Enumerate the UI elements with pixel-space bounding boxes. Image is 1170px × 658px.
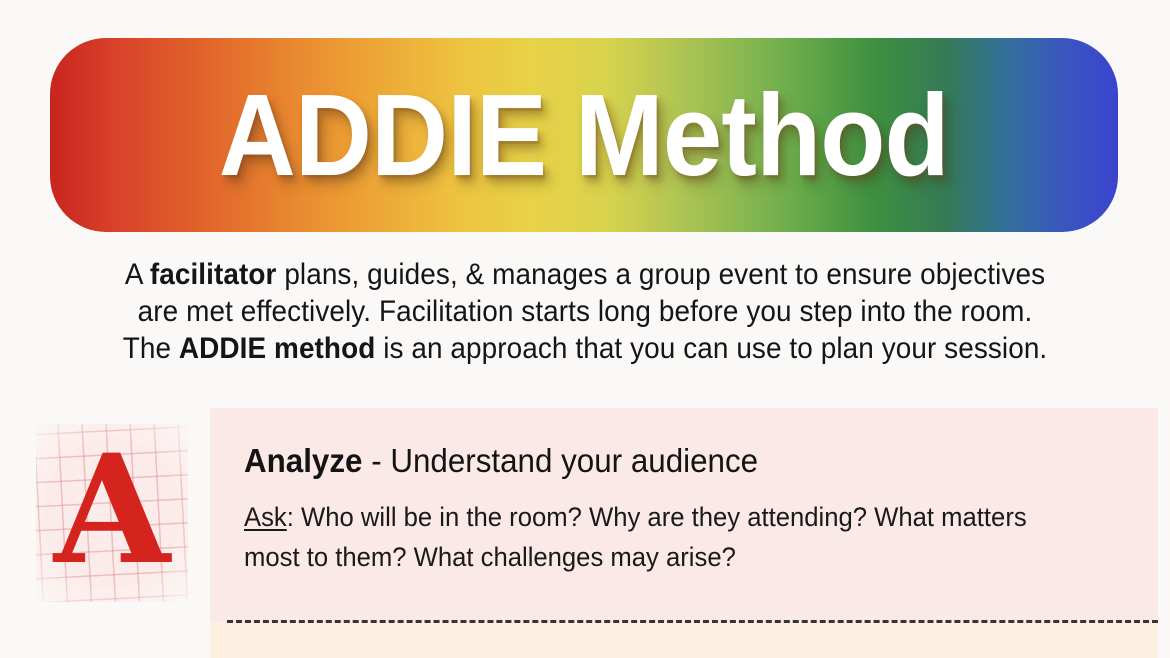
step-separator: - xyxy=(362,442,390,479)
page-title: ADDIE Method xyxy=(219,77,949,193)
step-description: Understand your audience xyxy=(390,442,758,479)
step-cue-label: Ask xyxy=(244,502,287,532)
intro-line-2: are met effectively. Facilitation starts… xyxy=(41,293,1129,330)
intro-line-3-pre: The xyxy=(123,332,179,365)
header-banner: ADDIE Method xyxy=(50,38,1118,232)
step-panel-analyze: Analyze - Understand your audience Ask: … xyxy=(210,408,1158,658)
step-cue-separator: : xyxy=(287,502,301,532)
step-body-text: Who will be in the room? Why are they at… xyxy=(244,502,1027,572)
intro-keyword-facilitator: facilitator xyxy=(150,258,277,291)
intro-line-1-pre: A xyxy=(125,258,150,291)
section-divider xyxy=(227,620,1158,623)
step-body-analyze: Ask: Who will be in the room? Why are th… xyxy=(244,497,1076,577)
step-letter-a: A xyxy=(36,424,188,602)
step-name: Analyze xyxy=(244,442,362,479)
intro-line-1: A facilitator plans, guides, & manages a… xyxy=(41,256,1129,293)
intro-line-3: The ADDIE method is an approach that you… xyxy=(41,330,1129,367)
intro-line-1-post: plans, guides, & manages a group event t… xyxy=(276,258,1045,291)
step-heading-analyze: Analyze - Understand your audience xyxy=(244,442,1076,480)
step-letter-tile-a: A xyxy=(36,424,188,602)
intro-line-3-post: is an approach that you can use to plan … xyxy=(375,332,1047,365)
step-panel-content: Analyze - Understand your audience Ask: … xyxy=(210,408,1158,577)
intro-paragraph: A facilitator plans, guides, & manages a… xyxy=(41,256,1129,367)
next-step-panel xyxy=(210,622,1158,658)
intro-keyword-addie-method: ADDIE method xyxy=(179,332,375,365)
